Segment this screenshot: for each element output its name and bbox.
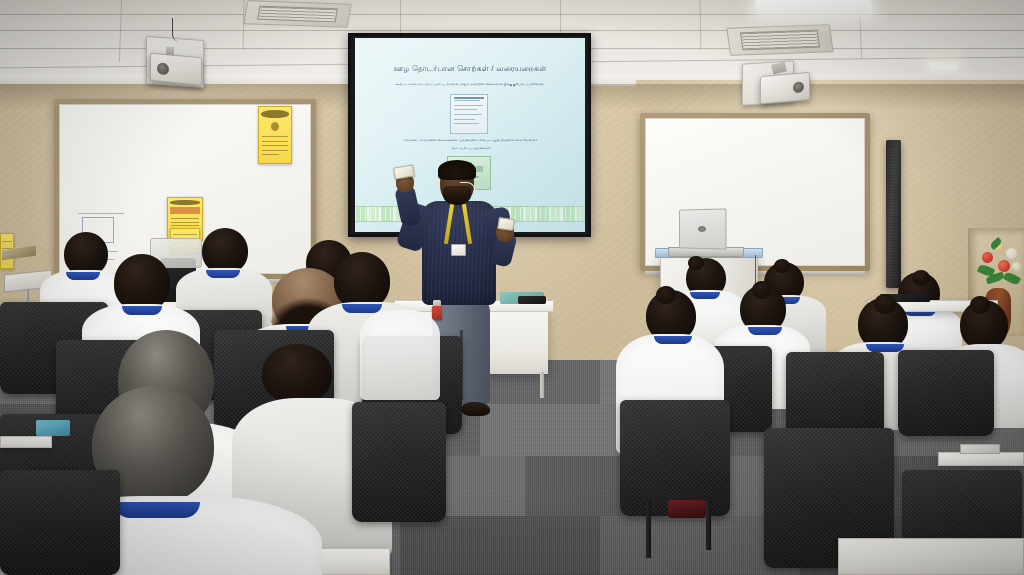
slide-body-line-2: தொடர்புடைய ஆவணங்கள் [373, 146, 569, 151]
presenter-hair [438, 160, 476, 180]
projector-right [760, 72, 810, 104]
desk-back-left [0, 436, 52, 448]
wall-speaker-column [886, 140, 901, 288]
slide-title: ஊழ தொடர்பான சொற்கள் / வரையறைகள் [361, 64, 579, 74]
slide-document-image [450, 94, 488, 134]
safety-poster-caution-top [258, 106, 292, 164]
desk-right-2 [938, 452, 1024, 466]
attendee-shoe [668, 500, 706, 518]
chair-left-foreground[interactable] [0, 470, 120, 575]
presenter-shoe-right [462, 402, 490, 416]
presenter-sample-card-right [497, 217, 515, 231]
flower-arrangement [978, 238, 1024, 296]
projector-left-cable [172, 18, 186, 42]
presenter-lanyard [445, 204, 471, 256]
ceiling-light-panel-right [755, 0, 873, 14]
chair-right-front-1[interactable] [620, 400, 730, 516]
table-leg [540, 372, 544, 398]
presenter-id-card [451, 244, 466, 256]
laptop-logo [698, 226, 706, 232]
desk-paper [960, 444, 1000, 454]
chair-right-3[interactable] [898, 350, 994, 436]
chair-leg [706, 500, 711, 550]
projector-left [150, 53, 202, 86]
ceiling-downlight-right [929, 62, 959, 70]
chair-right-2[interactable] [786, 352, 884, 440]
desk-item-bag [36, 420, 70, 436]
ac-vent-left [243, 0, 352, 28]
ac-vent-right [726, 24, 833, 56]
headset-mic-icon [460, 182, 475, 194]
presenter-belt-badge [432, 306, 442, 320]
classroom-photo-scene: ஊழ தொடர்பான சொற்கள் / வரையறைகள் ஊழியர் ந… [0, 0, 1024, 575]
desk-front-right [838, 538, 1024, 575]
slide-body-line-1: ஊழியர் நலன்சார்ந்த தொடர்புடைய சொற்கள் மற… [369, 82, 571, 87]
chair-leg [646, 500, 651, 558]
slide-body-line-3: மேற்கண்ட சொற்களின் விளக்கங்களை ஆவணத்தில்… [373, 138, 569, 143]
chair-left-front-2[interactable] [352, 402, 446, 522]
